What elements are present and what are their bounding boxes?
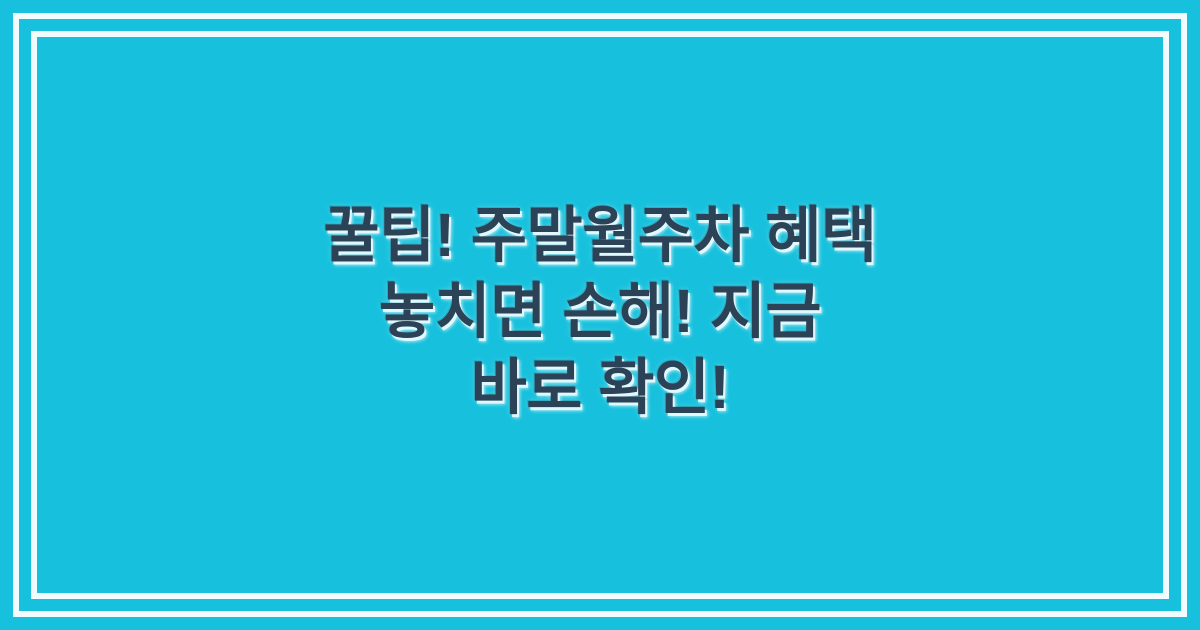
headline-line-3: 바로 확인! xyxy=(220,349,980,425)
headline-line-1: 꿀팁! 주말월주차 혜택 xyxy=(220,197,980,273)
headline-line-2: 놓치면 손해! 지금 xyxy=(220,273,980,349)
thumbnail-card: 꿀팁! 주말월주차 혜택 놓치면 손해! 지금 바로 확인! xyxy=(0,0,1200,630)
headline-container: 꿀팁! 주말월주차 혜택 놓치면 손해! 지금 바로 확인! xyxy=(220,197,980,425)
page-title: 꿀팁! 주말월주차 혜택 놓치면 손해! 지금 바로 확인! xyxy=(220,197,980,425)
